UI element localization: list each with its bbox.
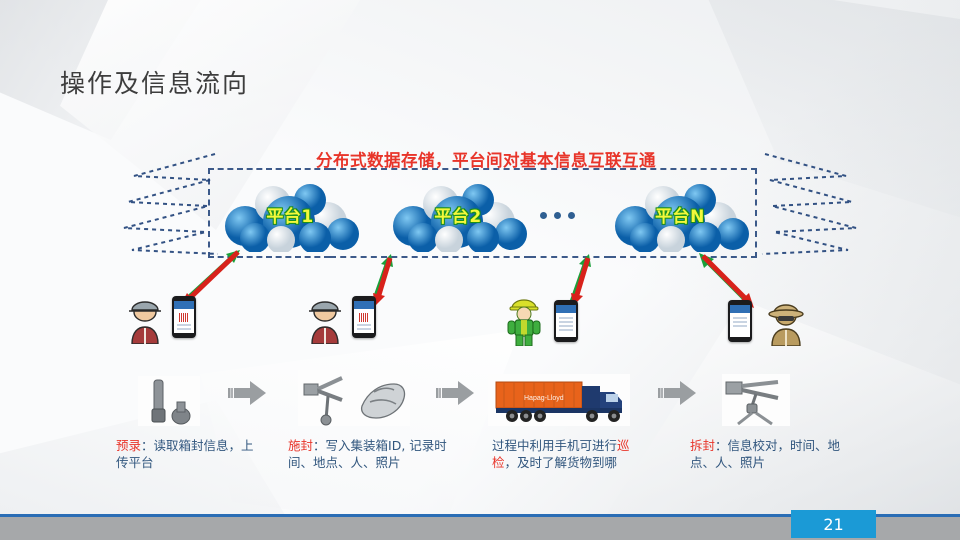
seal-cutter-icon [722,374,790,426]
dot [554,212,561,219]
phone-text-line [559,321,573,323]
dashed-mesh-right [760,150,870,260]
phone-text-line [733,321,747,323]
barcode-graphic [179,313,189,322]
dot [540,212,547,219]
smartphone-icon [352,296,376,338]
caption-text: ，及时了解货物到哪 [505,455,618,470]
phone-text-line [177,324,191,326]
background-facet [200,330,520,530]
worker-gray-helmet-icon [128,298,162,344]
phone-screen [354,301,374,333]
platform-cloud-n: 平台N [605,178,755,252]
banner-text: 分布式数据存储，平台间对基本信息互联互通 [276,147,696,171]
caption-pre-record: 预录：读取箱封信息，上传平台 [116,437,266,471]
phone-app-body [354,309,374,333]
phone-text-line [559,329,573,331]
phone-app-body [174,309,194,333]
ellipsis-dots [540,212,575,219]
platform-cloud-label: 平台N [605,202,755,227]
inspector-tan-hat-icon [766,300,806,346]
smartphone-icon [554,300,578,342]
phone-text-line [559,317,573,319]
caption-keyword: 拆封 [690,438,715,453]
caption-sealing: 施封：写入集装箱ID, 记录时间、地点、人、照片 [288,437,448,471]
platform-cloud-label: 平台2 [383,202,533,227]
phone-text-line [357,324,371,326]
caption-prefix: 过程中利用手机可进行 [492,438,617,453]
phone-text-line [559,325,573,327]
phone-text-line [357,328,371,330]
stage-separator-arrow-2 [436,378,476,408]
seal-bolt-icon [138,376,200,426]
platform-cloud-1: 平台1 [215,178,365,252]
caption-unsealing: 拆封：信息校对，时间、地点、人、照片 [690,437,855,471]
caption-in-transit-inspection: 过程中利用手机可进行巡检，及时了解货物到哪 [492,437,644,471]
phone-app-body [556,313,576,335]
dot [568,212,575,219]
stage-separator-arrow-3 [658,378,698,408]
phone-screen [174,301,194,333]
seal-crimping-tool-icon [298,370,354,426]
barcode-graphic [359,313,369,322]
worker-gray-helmet-icon [308,298,342,344]
platform-cloud-label: 平台1 [215,202,365,227]
phone-app-body [730,313,750,331]
page-number-badge: 21 [791,510,876,538]
caption-keyword: 施封 [288,438,313,453]
seal-hand-check-icon [354,370,410,426]
svg-text:Hapag-Lloyd: Hapag-Lloyd [524,395,564,402]
smartphone-icon [172,296,196,338]
phone-text-line [733,325,747,327]
phone-screen [556,305,576,337]
page-title: 操作及信息流向 [60,64,249,100]
stage-separator-arrow-1 [228,378,268,408]
caption-keyword: 预录 [116,438,141,453]
phone-app-header [354,301,374,309]
platform-cloud-2: 平台2 [383,178,533,252]
phone-app-header [174,301,194,309]
smartphone-icon [728,300,752,342]
phone-app-header [730,305,750,313]
phone-text-line [177,328,191,330]
container-truck-icon: Hapag-Lloyd [488,374,630,426]
phone-text-line [733,317,747,319]
phone-app-header [556,305,576,313]
phone-screen [730,305,750,337]
worker-green-vest-icon [506,296,542,346]
slide-canvas: 操作及信息流向 分布式数据存储，平台间对基本信息互联互通 [0,0,960,540]
